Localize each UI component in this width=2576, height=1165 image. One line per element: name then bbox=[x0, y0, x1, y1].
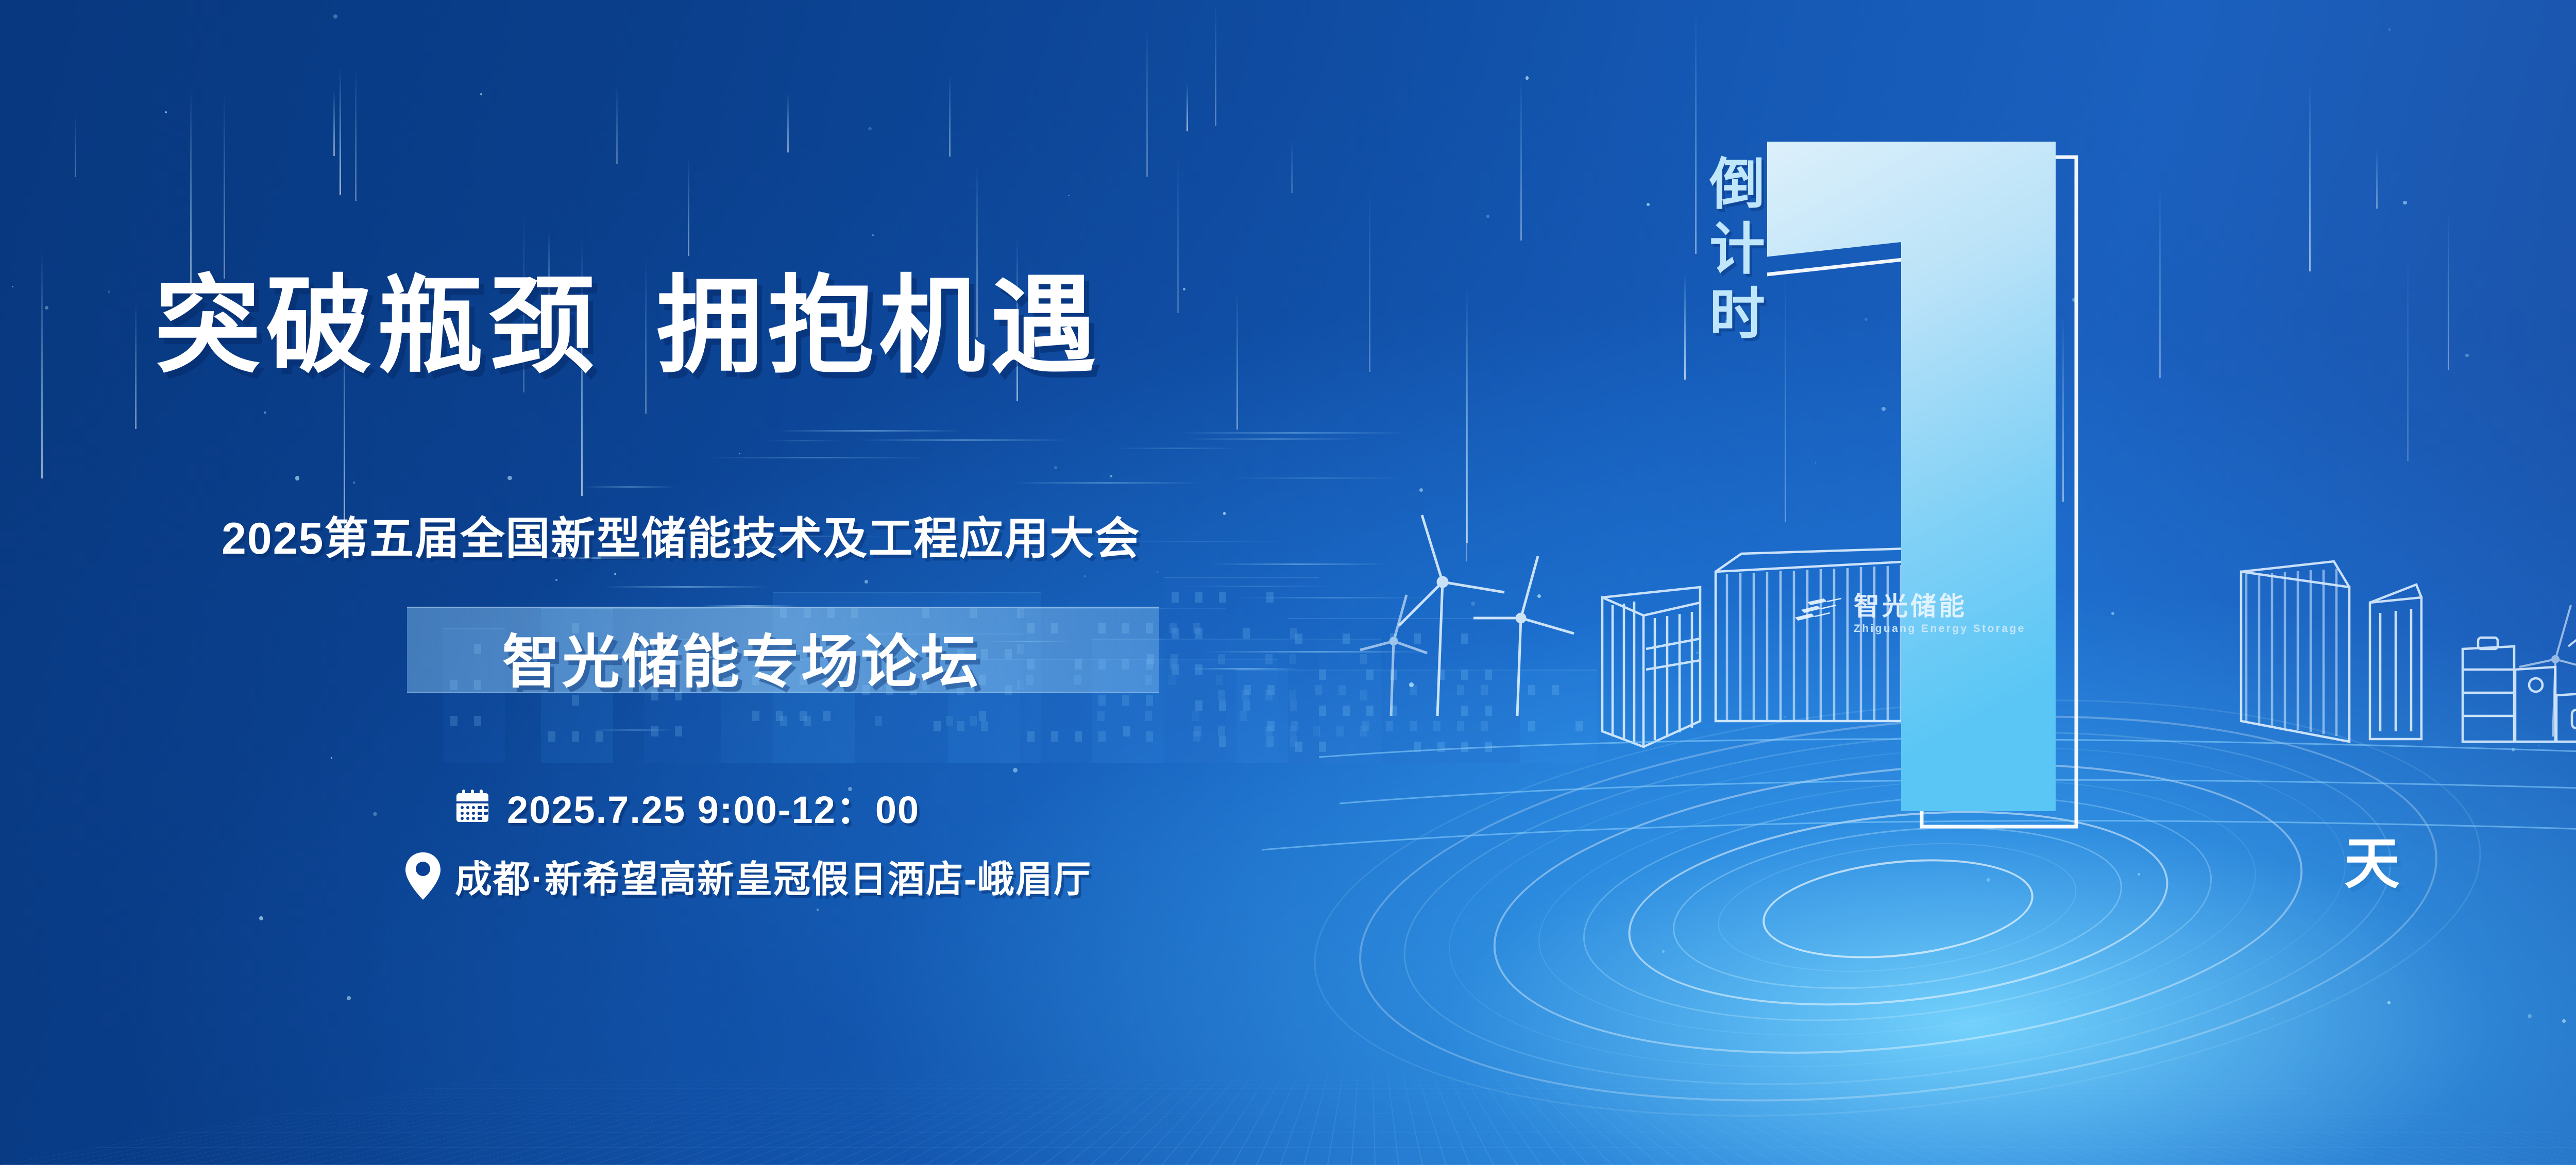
building-window bbox=[1433, 721, 1440, 731]
building-window bbox=[1437, 670, 1445, 680]
light-streak bbox=[1146, 27, 1148, 177]
building-window bbox=[1362, 721, 1369, 731]
calendar-icon bbox=[453, 788, 492, 826]
particle-dot bbox=[2387, 1001, 2391, 1004]
building-window bbox=[1414, 742, 1421, 752]
building-window bbox=[1290, 700, 1297, 711]
building-window bbox=[981, 721, 988, 731]
building-window bbox=[1172, 664, 1179, 675]
light-streak bbox=[355, 66, 357, 200]
building-window bbox=[1218, 690, 1225, 700]
wind-turbine-group-left bbox=[1360, 515, 1574, 716]
building-window bbox=[1485, 670, 1492, 680]
building-window bbox=[934, 721, 941, 731]
headline-part-left: 突破瓶颈 bbox=[155, 267, 600, 385]
event-date-row: 2025.7.25 9:00-12：00 bbox=[453, 779, 920, 834]
building-window bbox=[780, 716, 787, 726]
building-window bbox=[1343, 633, 1350, 644]
building-window bbox=[1290, 628, 1297, 639]
building-window bbox=[1219, 592, 1226, 603]
particle-dot bbox=[1419, 488, 1423, 492]
building-window bbox=[1170, 623, 1177, 633]
particle-dot bbox=[373, 812, 377, 816]
building-window bbox=[1218, 726, 1225, 736]
light-streak bbox=[1291, 139, 1293, 193]
building-window bbox=[474, 716, 481, 726]
building-window bbox=[1366, 706, 1374, 716]
building-window bbox=[1390, 633, 1397, 644]
building-window bbox=[1243, 628, 1250, 639]
accent-line bbox=[767, 440, 842, 441]
building-window bbox=[1291, 721, 1298, 731]
perspective-grid-decoration bbox=[0, 1068, 2576, 1165]
accent-line bbox=[1179, 432, 1406, 434]
light-streak bbox=[75, 112, 76, 177]
building-window bbox=[804, 716, 811, 726]
banner-headline: 突破瓶颈拥抱机遇 bbox=[155, 273, 1101, 379]
light-streak bbox=[1466, 304, 1467, 562]
building-window bbox=[675, 726, 682, 736]
accent-line bbox=[776, 430, 964, 432]
particle-dot bbox=[614, 573, 616, 575]
accent-line bbox=[860, 439, 1069, 441]
building-window bbox=[1319, 742, 1326, 752]
particle-dot bbox=[2512, 748, 2515, 751]
logo-name-en: Zhiguang Energy Storage bbox=[1854, 623, 2026, 634]
light-streak bbox=[1684, 272, 1686, 380]
accent-line bbox=[593, 729, 675, 731]
building-window bbox=[1265, 726, 1273, 736]
building-window bbox=[1194, 726, 1201, 736]
light-streak bbox=[2448, 209, 2449, 370]
building-window bbox=[1244, 685, 1251, 695]
particle-dot bbox=[1537, 594, 1541, 598]
building-window bbox=[1457, 685, 1464, 695]
building-window bbox=[1097, 711, 1105, 721]
building-shape bbox=[1288, 618, 1520, 763]
building-window bbox=[1410, 685, 1417, 695]
building-window bbox=[1240, 711, 1247, 721]
building-window bbox=[1290, 736, 1297, 747]
building-window bbox=[572, 731, 579, 742]
building-window bbox=[1075, 731, 1082, 742]
building-window bbox=[946, 716, 953, 726]
building-window bbox=[1289, 654, 1296, 664]
building-window bbox=[1410, 721, 1417, 731]
building-window bbox=[957, 721, 964, 731]
wind-turbine-icon bbox=[1360, 595, 1427, 716]
particle-dot bbox=[2538, 745, 2540, 746]
building-window bbox=[1051, 731, 1058, 742]
building-window bbox=[651, 726, 658, 736]
accent-line bbox=[1209, 563, 1389, 565]
particle-dot bbox=[1647, 203, 1650, 206]
building-window bbox=[875, 716, 882, 726]
building-window bbox=[1265, 690, 1273, 700]
light-streak bbox=[1177, 155, 1179, 313]
building-window bbox=[1528, 721, 1535, 731]
wind-turbine-icon bbox=[2568, 546, 2576, 736]
particle-dot bbox=[2388, 28, 2391, 30]
light-streak bbox=[2407, 248, 2409, 460]
forum-name: 智光储能专场论坛 bbox=[502, 615, 980, 699]
particle-dot bbox=[165, 111, 167, 113]
building-window bbox=[1195, 592, 1202, 603]
building-window bbox=[1481, 721, 1488, 731]
particle-dot bbox=[1223, 512, 1226, 515]
logo-name-cn: 智光储能 bbox=[1854, 593, 2026, 619]
accent-line bbox=[1011, 482, 1201, 484]
building-window bbox=[823, 711, 831, 721]
building-window bbox=[1485, 706, 1492, 716]
building-window bbox=[1289, 690, 1296, 700]
accent-line bbox=[1236, 597, 1431, 598]
building-window bbox=[1289, 726, 1296, 736]
wind-turbine-group-right bbox=[2519, 525, 2576, 736]
building-window bbox=[970, 716, 977, 726]
building-window bbox=[1461, 633, 1468, 644]
particle-dot bbox=[1471, 602, 1475, 606]
particle-dot bbox=[333, 14, 337, 19]
building-window bbox=[1338, 685, 1346, 695]
particle-dot bbox=[1662, 950, 1665, 953]
building-window bbox=[1343, 706, 1350, 716]
accent-line bbox=[582, 486, 676, 488]
building-window bbox=[1192, 711, 1199, 721]
particle-dot bbox=[872, 234, 874, 236]
light-streak bbox=[616, 85, 618, 164]
particle-dot bbox=[2465, 354, 2468, 357]
building-window bbox=[1146, 695, 1153, 706]
battery-container-right bbox=[2241, 561, 2576, 742]
particle-dot bbox=[45, 306, 48, 310]
building-window bbox=[1216, 675, 1223, 685]
particle-dot bbox=[868, 127, 871, 130]
particle-dot bbox=[353, 482, 355, 484]
building-window bbox=[1122, 695, 1129, 706]
headline-part-right: 拥抱机遇 bbox=[656, 267, 1101, 385]
building-window bbox=[1171, 654, 1178, 664]
particle-dot bbox=[259, 916, 263, 920]
light-streak bbox=[949, 74, 951, 157]
countdown-unit: 天 bbox=[2344, 819, 2400, 899]
building-window bbox=[1027, 731, 1035, 742]
particle-dot bbox=[817, 909, 819, 911]
zhiguang-logo: 智光储能 Zhiguang Energy Storage bbox=[1788, 593, 2026, 634]
building-window bbox=[1145, 711, 1152, 721]
building-window bbox=[1195, 628, 1202, 639]
building-window bbox=[1414, 633, 1421, 644]
banner-subtitle: 2025第五届全国新型储能技术及工程应用大会 bbox=[222, 502, 1140, 567]
particle-dot bbox=[1526, 76, 1529, 80]
particle-dot bbox=[347, 996, 351, 1001]
building-window bbox=[752, 711, 759, 721]
particle-dot bbox=[2271, 1018, 2273, 1020]
building-window bbox=[979, 711, 986, 721]
event-location: 成都·新希望高新皇冠假日酒店-峨眉厅 bbox=[455, 849, 1092, 903]
light-streak bbox=[787, 93, 789, 152]
particle-dot bbox=[555, 579, 557, 581]
building-window bbox=[1265, 654, 1273, 664]
building-window bbox=[1295, 633, 1302, 644]
building-shape bbox=[1164, 577, 1319, 763]
particle-dot bbox=[480, 93, 482, 95]
accent-line bbox=[1177, 586, 1336, 587]
accent-line bbox=[1189, 668, 1299, 670]
building-window bbox=[1461, 706, 1468, 716]
countdown-label: 倒计时 bbox=[1692, 155, 1773, 349]
building-window bbox=[1386, 721, 1393, 731]
light-streak bbox=[1215, 2, 1216, 126]
accent-line bbox=[704, 457, 929, 458]
wind-turbine-icon bbox=[1399, 515, 1504, 716]
battery-container-left bbox=[1602, 587, 1700, 747]
particle-dot bbox=[1157, 571, 1158, 573]
building-window bbox=[1319, 706, 1326, 716]
building-window bbox=[1098, 731, 1106, 742]
light-streak bbox=[135, 301, 137, 429]
building-window bbox=[1193, 731, 1200, 742]
building-window bbox=[1313, 726, 1320, 736]
particle-dot bbox=[295, 476, 299, 480]
building-window bbox=[1146, 731, 1153, 742]
accent-line bbox=[1229, 477, 1406, 479]
building-window bbox=[1193, 623, 1200, 633]
building-window bbox=[596, 731, 603, 742]
particle-dot bbox=[331, 757, 332, 759]
building-window bbox=[1575, 721, 1583, 731]
building-window bbox=[1243, 700, 1250, 711]
countdown-number-graphic bbox=[1767, 131, 2257, 955]
accent-line bbox=[1187, 438, 1360, 440]
light-streak bbox=[688, 156, 689, 256]
building-window bbox=[548, 731, 555, 742]
building-window bbox=[1242, 690, 1249, 700]
wind-turbine-icon bbox=[1473, 556, 1574, 716]
particle-dot bbox=[1054, 466, 1057, 469]
light-streak bbox=[1520, 76, 1522, 241]
event-location-row: 成都·新希望高新皇冠假日酒店-峨眉厅 bbox=[404, 849, 1092, 903]
particle-dot bbox=[2403, 201, 2407, 205]
building-window bbox=[1319, 670, 1326, 680]
building-window bbox=[1172, 592, 1179, 603]
particle-dot bbox=[865, 580, 868, 584]
building-window bbox=[1168, 675, 1176, 685]
building-window bbox=[1528, 685, 1535, 695]
accent-line bbox=[1204, 651, 1431, 653]
light-streak bbox=[340, 66, 341, 195]
light-streak bbox=[1369, 187, 1370, 372]
building-window bbox=[1390, 706, 1397, 716]
building-window bbox=[1218, 654, 1225, 664]
building-window bbox=[776, 711, 783, 721]
light-streak bbox=[333, 90, 335, 156]
building-window bbox=[1457, 721, 1464, 731]
building-window bbox=[1461, 670, 1468, 680]
building-window bbox=[1123, 726, 1130, 736]
building-window bbox=[1390, 670, 1397, 680]
building-window bbox=[1295, 742, 1302, 752]
building-window bbox=[1336, 726, 1344, 736]
light-streak bbox=[1187, 82, 1188, 131]
particle-dot bbox=[12, 286, 13, 287]
wind-turbine-icon bbox=[2519, 605, 2576, 736]
particle-dot bbox=[1696, 652, 1699, 654]
building-shape bbox=[1236, 670, 1597, 763]
accent-line bbox=[603, 586, 770, 588]
building-window bbox=[1366, 670, 1374, 680]
light-streak bbox=[1466, 286, 1468, 543]
zhiguang-logo-mark-icon bbox=[1788, 597, 1843, 631]
light-streak bbox=[41, 249, 43, 478]
building-window bbox=[1360, 726, 1367, 736]
particle-dot bbox=[1013, 768, 1018, 773]
building-window bbox=[1098, 695, 1106, 706]
building-window bbox=[1552, 685, 1559, 695]
building-window bbox=[1195, 664, 1202, 675]
building-window bbox=[450, 716, 457, 726]
particle-dot bbox=[108, 290, 110, 293]
event-banner: 倒计时 天 智光储能 Zhiguang Energy Storage 突破瓶颈拥… bbox=[0, 0, 2576, 1165]
light-streak bbox=[224, 90, 225, 279]
light-streak bbox=[1236, 288, 1238, 430]
building-window bbox=[1315, 685, 1322, 695]
building-window bbox=[1219, 736, 1226, 747]
building-window bbox=[1219, 700, 1226, 711]
building-window bbox=[1461, 742, 1468, 752]
building-window bbox=[1360, 690, 1367, 700]
building-window bbox=[1266, 592, 1274, 603]
building-window bbox=[1266, 736, 1274, 747]
building-window bbox=[1485, 742, 1492, 752]
building-window bbox=[800, 711, 807, 721]
accent-line bbox=[1113, 448, 1242, 449]
particle-dot bbox=[1110, 475, 1113, 477]
particle-dot bbox=[1183, 288, 1185, 290]
particle-dot bbox=[739, 453, 740, 454]
particle-dot bbox=[2528, 1014, 2532, 1018]
particle-dot bbox=[2562, 1019, 2566, 1023]
particle-dot bbox=[1409, 682, 1414, 687]
building-window bbox=[1195, 700, 1202, 711]
light-streak bbox=[2309, 82, 2311, 271]
particle-dot bbox=[1084, 575, 1086, 577]
building-window bbox=[1267, 685, 1275, 695]
map-pin-icon bbox=[404, 851, 442, 901]
building-window bbox=[1267, 721, 1275, 731]
particle-dot bbox=[507, 476, 512, 481]
building-window bbox=[1172, 628, 1179, 639]
particle-dot bbox=[1068, 195, 1069, 196]
light-streak bbox=[2376, 147, 2378, 209]
building-window bbox=[1481, 685, 1488, 695]
event-date: 2025.7.25 9:00-12：00 bbox=[507, 779, 920, 834]
building-window bbox=[1437, 742, 1445, 752]
particle-dot bbox=[1486, 215, 1489, 218]
particle-dot bbox=[264, 412, 266, 414]
building-window bbox=[1360, 654, 1367, 664]
building-window bbox=[1170, 659, 1177, 670]
